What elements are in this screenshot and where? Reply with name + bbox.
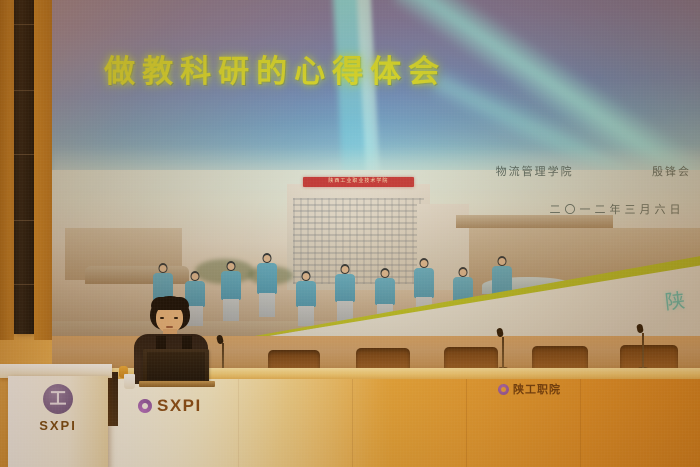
- laptop-screen: [147, 352, 205, 380]
- projection-screen: 陕西工业职业技术学院: [52, 0, 700, 342]
- sxpi-swirl-icon-small: [498, 384, 509, 395]
- photo-scene: 陕西工业职业技术学院: [0, 0, 700, 467]
- sxpi-swirl-icon: [138, 399, 152, 413]
- left-column-speaker: [14, 0, 34, 334]
- podium-logo-glyph: 工: [50, 391, 67, 408]
- desk-sxpi-text: SXPI: [157, 396, 202, 416]
- podium: 工 SXPI: [8, 376, 108, 467]
- desk-sxpi-logo: SXPI: [138, 396, 202, 416]
- podium-brand-text: SXPI: [8, 418, 108, 433]
- water-cup: [124, 374, 135, 389]
- microphone: [636, 326, 650, 374]
- wall-left-strip: [0, 0, 14, 340]
- presenter-mouth: [166, 326, 173, 328]
- presenter-fringe: [151, 297, 189, 310]
- podium-circle-logo: 工: [43, 384, 73, 414]
- wall-column-side: [34, 0, 52, 340]
- desk-chinese-logo: 陕工职院: [498, 381, 561, 397]
- desk-chinese-text: 陕工职院: [513, 381, 561, 397]
- laptop-base: [139, 381, 215, 387]
- presenter-eye-right: [174, 317, 178, 319]
- screen-vignette: [52, 0, 700, 342]
- presenter-eye-left: [160, 317, 164, 319]
